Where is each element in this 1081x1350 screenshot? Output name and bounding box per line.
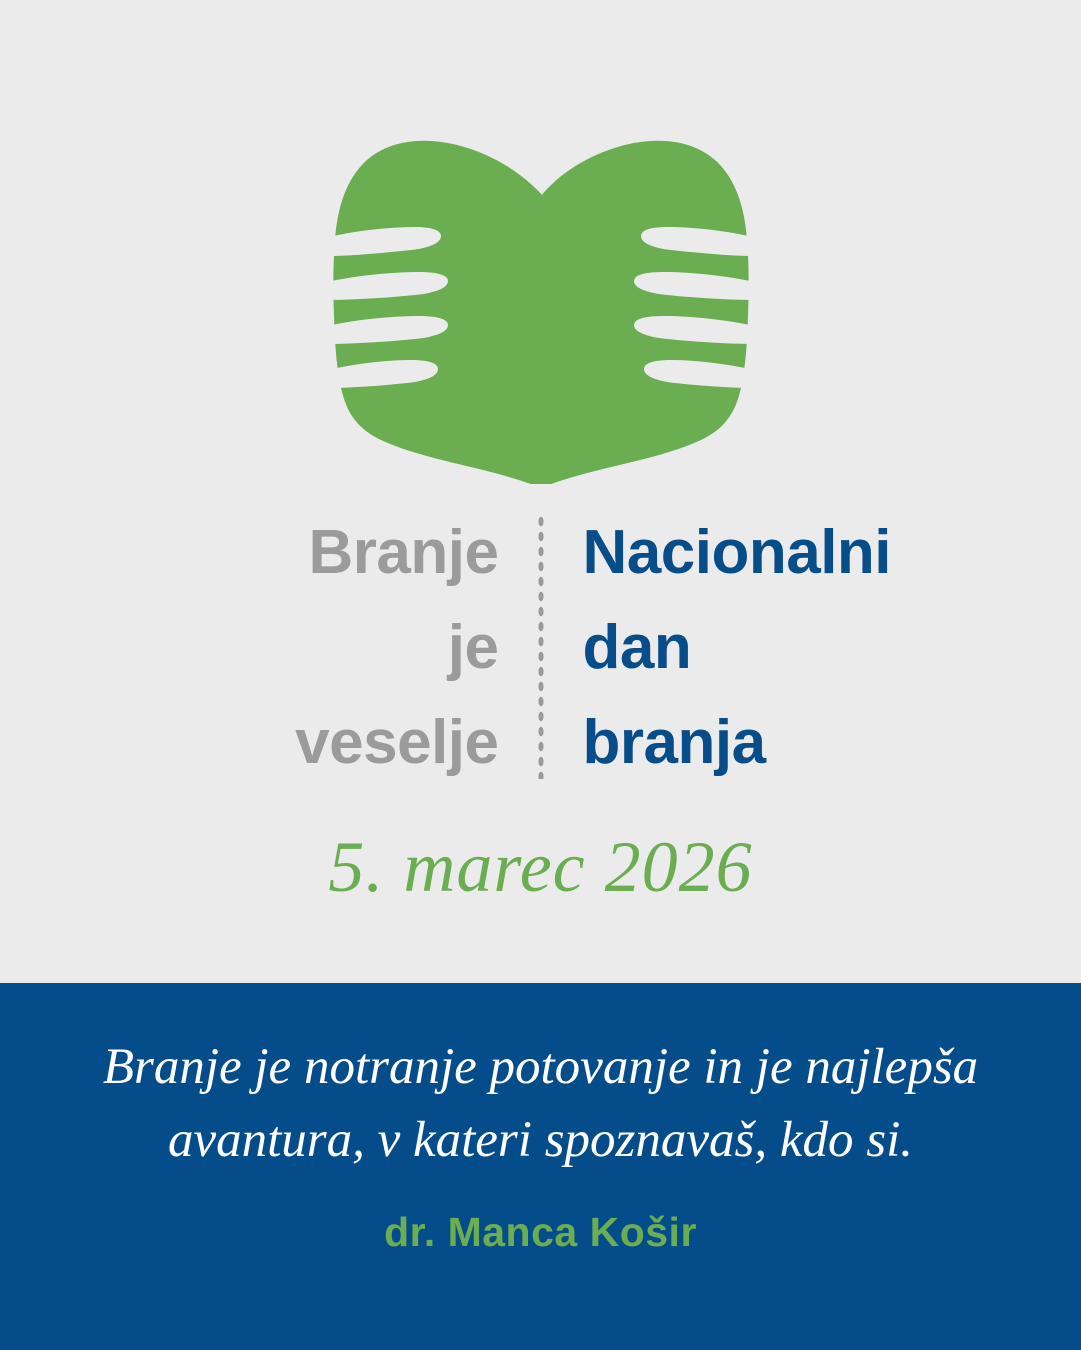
top-section: Branje je veselje Nacionalni dan branja …	[0, 0, 1081, 983]
lockup-left-column: Branje je veselje	[242, 505, 537, 790]
poster-root: Branje je veselje Nacionalni dan branja …	[0, 0, 1081, 1350]
dotted-divider-icon	[537, 514, 545, 779]
lockup-right-column: Nacionalni dan branja	[545, 505, 840, 790]
lockup-left-line-3: veselje	[242, 695, 499, 790]
open-book-logo	[311, 104, 771, 484]
lockup-right-line-1: Nacionalni	[583, 505, 840, 600]
quote-text: Branje je notranje potovanje in je najle…	[0, 1031, 1081, 1177]
lockup-left-line-2: je	[242, 600, 499, 695]
lockup-left-line-1: Branje	[242, 505, 499, 600]
quote-band: Branje je notranje potovanje in je najle…	[0, 983, 1081, 1350]
title-lockup: Branje je veselje Nacionalni dan branja	[0, 505, 1081, 795]
quote-author: dr. Manca Košir	[0, 1209, 1081, 1256]
lockup-right-line-2: dan	[583, 600, 840, 695]
lockup-right-line-3: branja	[583, 695, 840, 790]
event-date: 5. marec 2026	[0, 822, 1081, 912]
